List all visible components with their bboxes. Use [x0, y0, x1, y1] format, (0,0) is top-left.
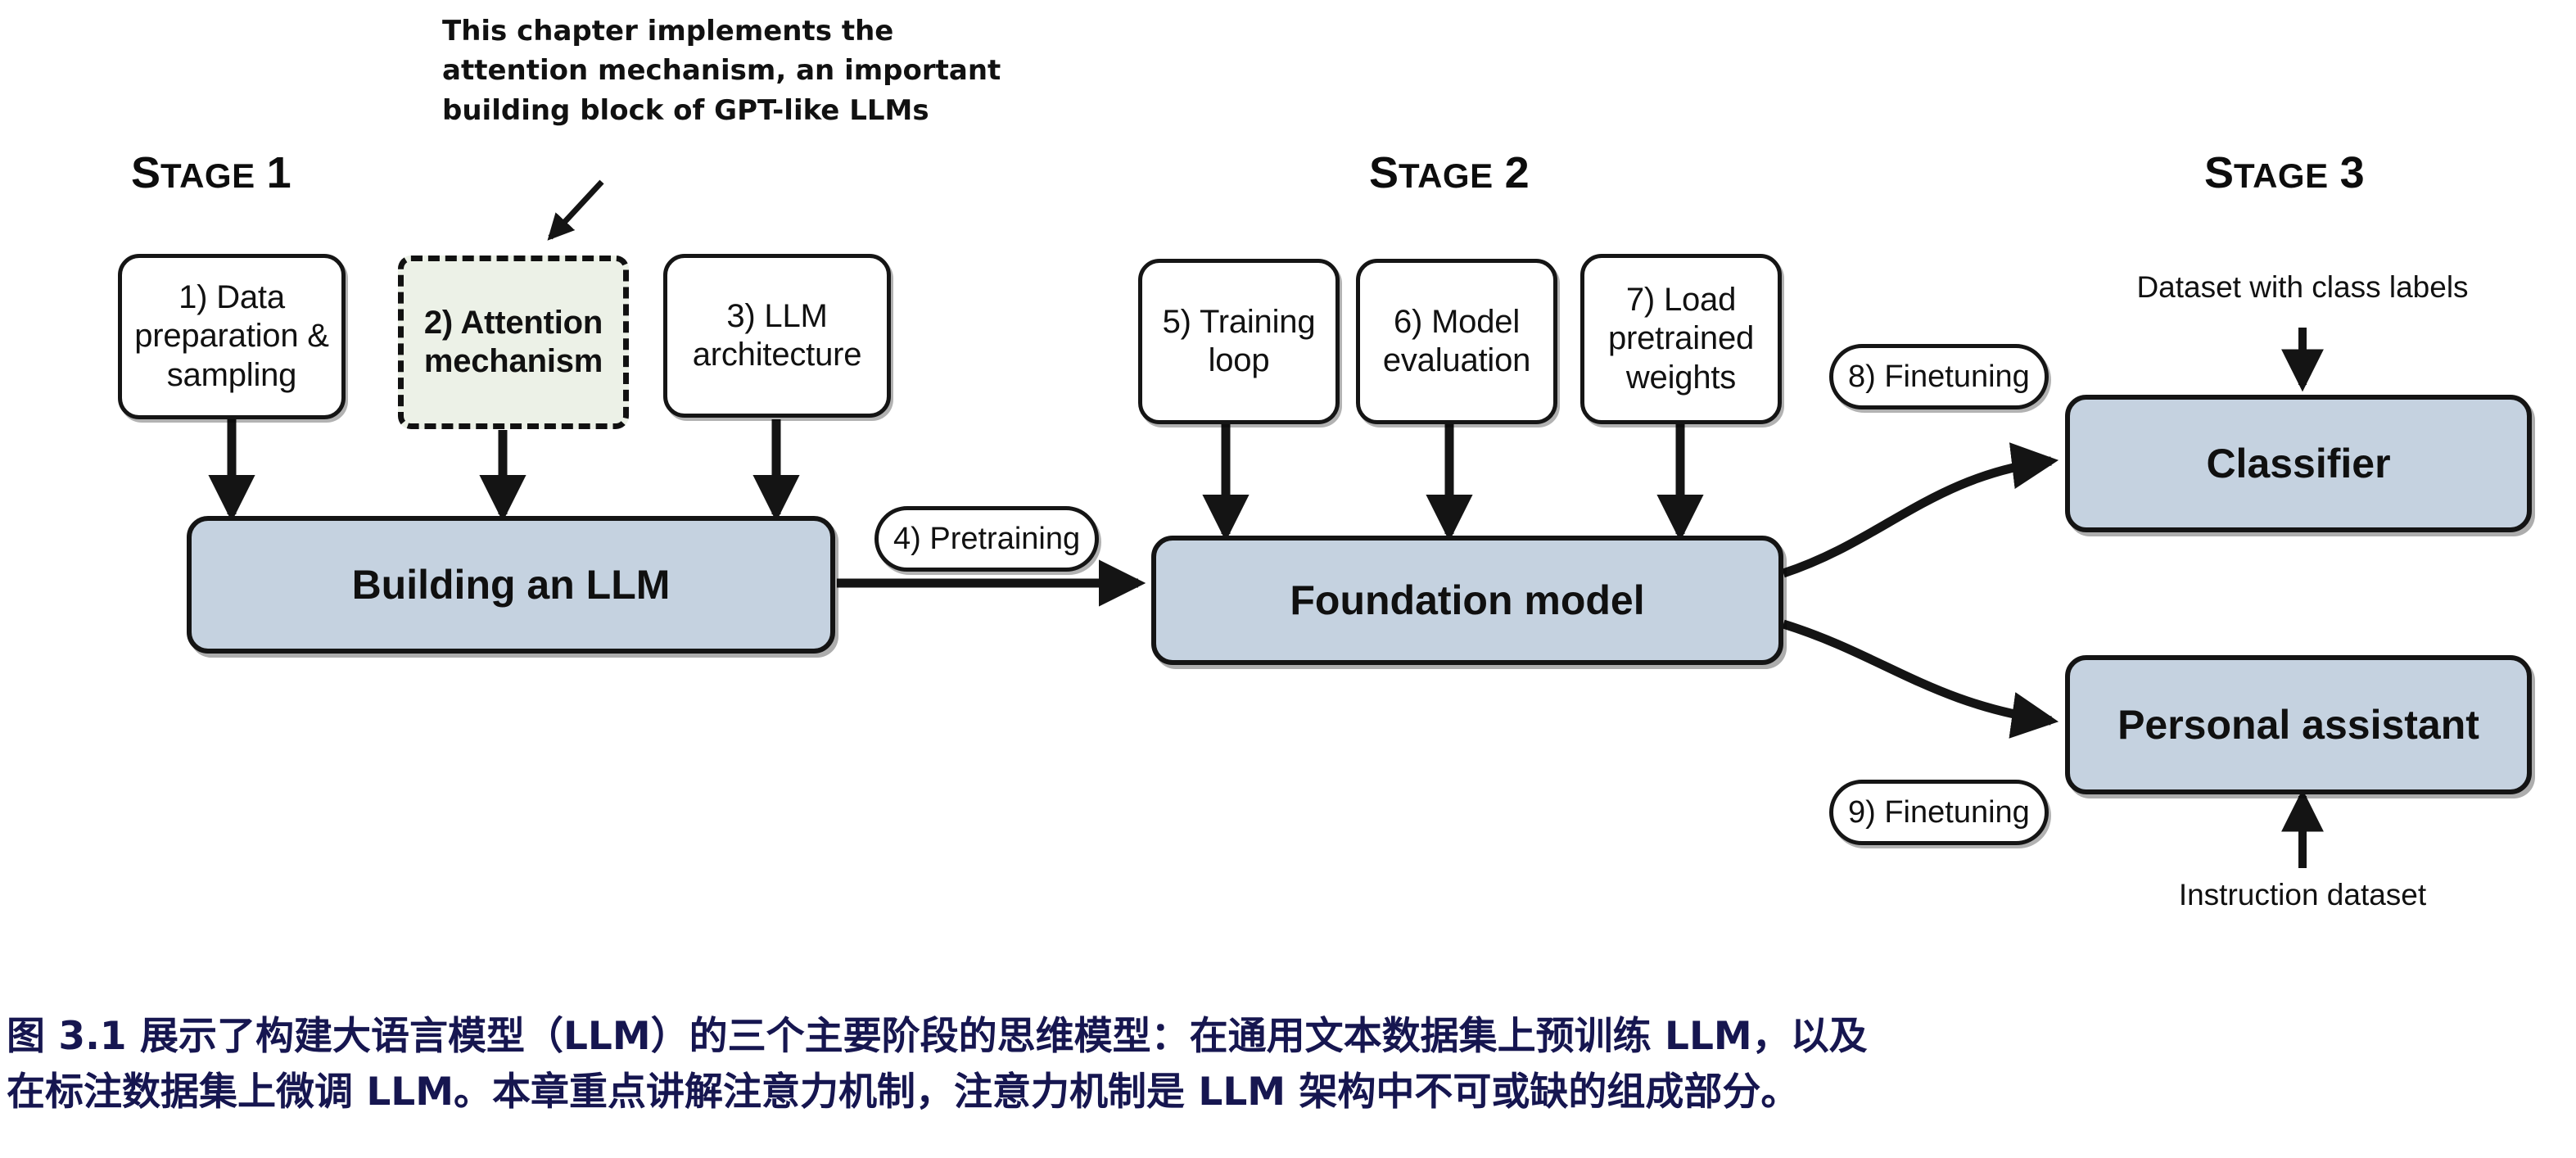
- figure-caption-line-1: 图 3.1 展示了构建大语言模型（LLM）的三个主要阶段的思维模型：在通用文本数…: [7, 1009, 2569, 1065]
- input-label-instruction-dataset: Instruction dataset: [2179, 878, 2426, 912]
- edge-label-finetuning-classifier-text: 8) Finetuning: [1848, 360, 2030, 395]
- figure-canvas: This chapter implements the attention me…: [0, 0, 2576, 1158]
- annotation-pointer-arrow: [550, 182, 602, 237]
- result-box-foundation-model[interactable]: Foundation model: [1151, 536, 1783, 665]
- stage-2-title-number: 2: [1505, 147, 1530, 198]
- result-box-personal-assistant-label: Personal assistant: [2117, 701, 2479, 749]
- edge-label-pretraining[interactable]: 4) Pretraining: [874, 506, 1099, 572]
- step-box-data-preparation-label: 1) Data preparation & sampling: [130, 278, 333, 395]
- result-box-foundation-model-label: Foundation model: [1290, 577, 1644, 624]
- result-box-building-an-llm[interactable]: Building an LLM: [187, 516, 835, 654]
- arrow-foundation-to-assistant: [1783, 624, 2051, 721]
- step-box-data-preparation[interactable]: 1) Data preparation & sampling: [118, 254, 346, 419]
- figure-caption: 图 3.1 展示了构建大语言模型（LLM）的三个主要阶段的思维模型：在通用文本数…: [7, 1009, 2569, 1120]
- edge-label-finetuning-assistant-text: 9) Finetuning: [1848, 795, 2030, 830]
- input-label-instruction-dataset-text: Instruction dataset: [2179, 878, 2426, 911]
- step-box-model-evaluation[interactable]: 6) Model evaluation: [1356, 259, 1557, 424]
- step-box-training-loop[interactable]: 5) Training loop: [1138, 259, 1340, 424]
- stage-3-title: S TAGE 3: [2204, 147, 2365, 198]
- step-box-load-pretrained-weights-label: 7) Load pretrained weights: [1593, 281, 1769, 397]
- step-box-model-evaluation-label: 6) Model evaluation: [1368, 303, 1545, 380]
- stage-3-title-number: 3: [2340, 147, 2365, 198]
- edge-label-finetuning-assistant[interactable]: 9) Finetuning: [1829, 780, 2049, 845]
- step-box-training-loop-label: 5) Training loop: [1150, 303, 1327, 380]
- arrow-foundation-to-classifier: [1783, 461, 2051, 573]
- result-box-building-an-llm-label: Building an LLM: [352, 561, 671, 608]
- result-box-classifier[interactable]: Classifier: [2065, 395, 2532, 532]
- edge-label-finetuning-classifier[interactable]: 8) Finetuning: [1829, 344, 2049, 409]
- stage-3-title-caps: TAGE: [2234, 156, 2329, 196]
- stage-2-title-initial: S: [1369, 147, 1399, 198]
- step-box-llm-architecture[interactable]: 3) LLM architecture: [663, 254, 891, 418]
- stage-1-title-initial: S: [131, 147, 160, 198]
- result-box-classifier-label: Classifier: [2206, 440, 2390, 487]
- step-box-load-pretrained-weights[interactable]: 7) Load pretrained weights: [1580, 254, 1782, 424]
- input-label-dataset-with-class-labels: Dataset with class labels: [2136, 270, 2468, 305]
- step-box-attention-mechanism[interactable]: 2) Attention mechanism: [398, 256, 629, 429]
- stage-1-title-number: 1: [267, 147, 291, 198]
- step-box-llm-architecture-label: 3) LLM architecture: [676, 297, 879, 374]
- stage-3-title-initial: S: [2204, 147, 2234, 198]
- stage-1-title-caps: TAGE: [160, 156, 255, 196]
- figure-caption-line-2: 在标注数据集上微调 LLM。本章重点讲解注意力机制，注意力机制是 LLM 架构中…: [7, 1065, 2569, 1120]
- input-label-dataset-with-class-labels-text: Dataset with class labels: [2136, 270, 2468, 304]
- stage-2-title-caps: TAGE: [1399, 156, 1494, 196]
- stage-2-title: S TAGE 2: [1369, 147, 1530, 198]
- step-box-attention-mechanism-label: 2) Attention mechanism: [412, 304, 615, 381]
- stage-1-title: S TAGE 1: [131, 147, 291, 198]
- edge-label-pretraining-text: 4) Pretraining: [893, 522, 1080, 557]
- result-box-personal-assistant[interactable]: Personal assistant: [2065, 655, 2532, 794]
